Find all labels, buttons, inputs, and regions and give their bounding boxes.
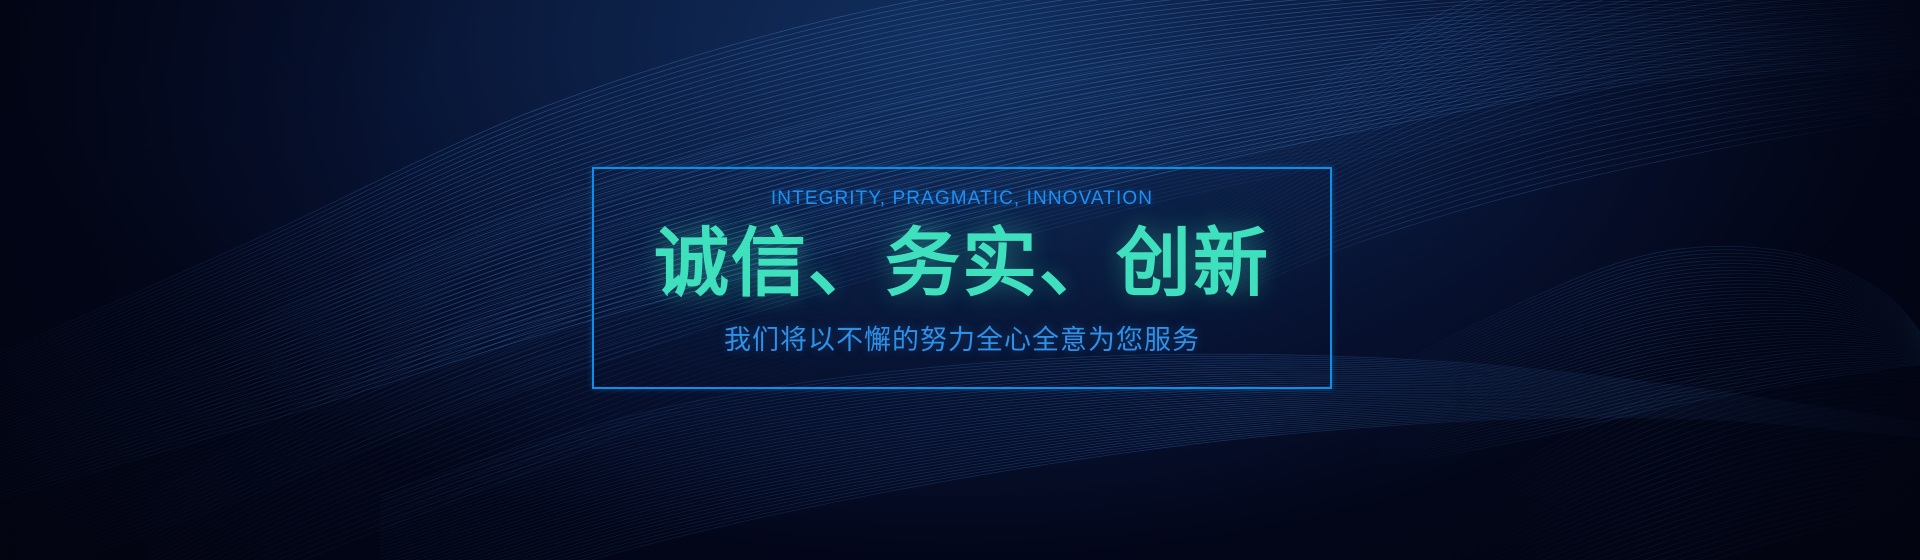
subtitle-chinese: 我们将以不懈的努力全心全意为您服务 [724,327,1200,354]
hero-banner: INTEGRITY, PRAGMATIC, INNOVATION 诚信、务实、创… [0,0,1920,560]
headline-chinese: 诚信、务实、创新 [654,226,1270,301]
tagline-english: INTEGRITY, PRAGMATIC, INNOVATION [771,189,1153,208]
banner-content: INTEGRITY, PRAGMATIC, INNOVATION 诚信、务实、创… [592,167,1332,389]
